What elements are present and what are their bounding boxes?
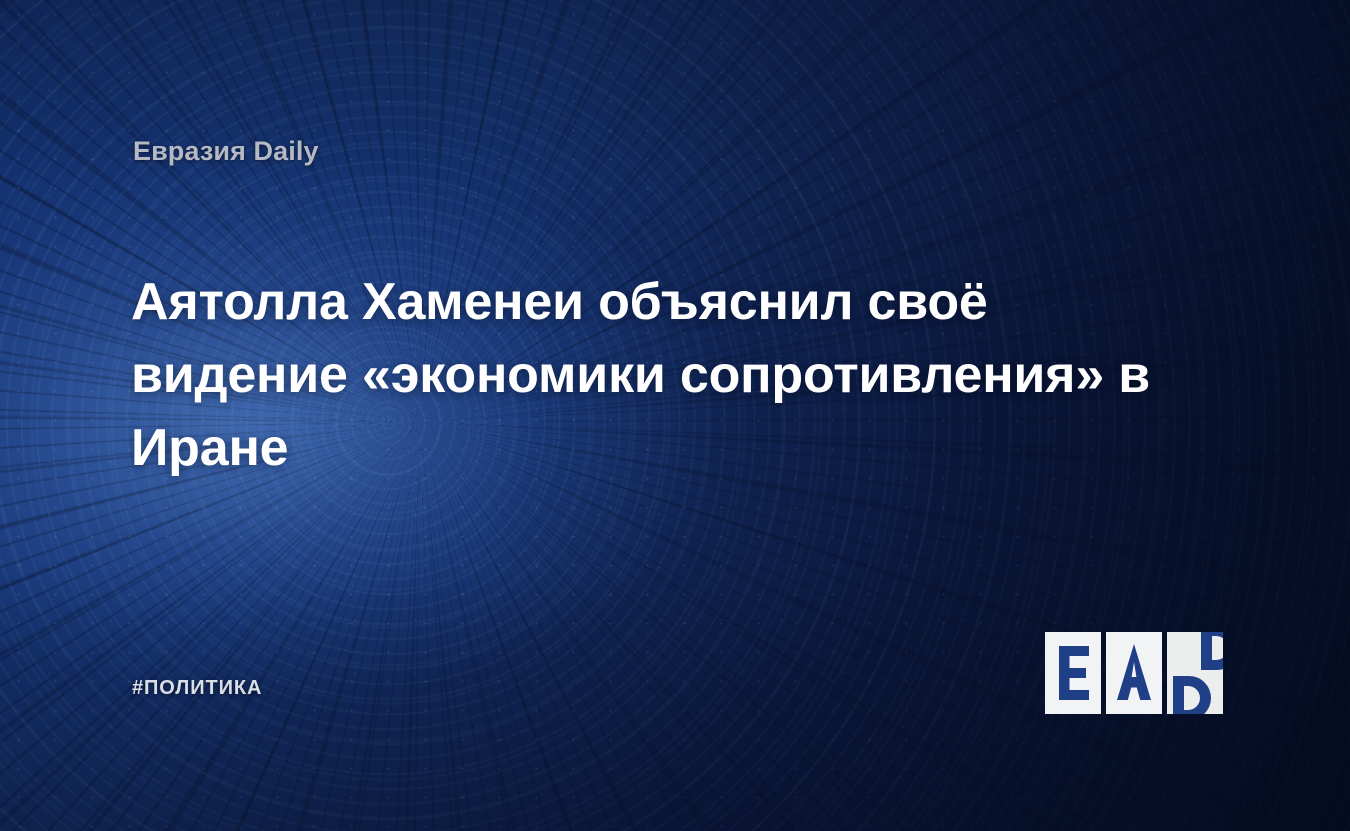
page-title: Аятолла Хаменеи объяснил своё видение «э… — [131, 266, 1191, 485]
logo-tile-a — [1106, 632, 1162, 714]
card-content: Евразия Daily Аятолла Хаменеи объяснил с… — [0, 0, 1350, 831]
logo-tile-d — [1167, 632, 1223, 714]
brand-name: Евразия Daily — [133, 136, 319, 167]
logo-tile-e — [1045, 632, 1101, 714]
category-tag: #ПОЛИТИКА — [132, 677, 262, 700]
article-share-card: Евразия Daily Аятолла Хаменеи объяснил с… — [0, 0, 1350, 831]
eadaily-logo — [1045, 632, 1223, 714]
